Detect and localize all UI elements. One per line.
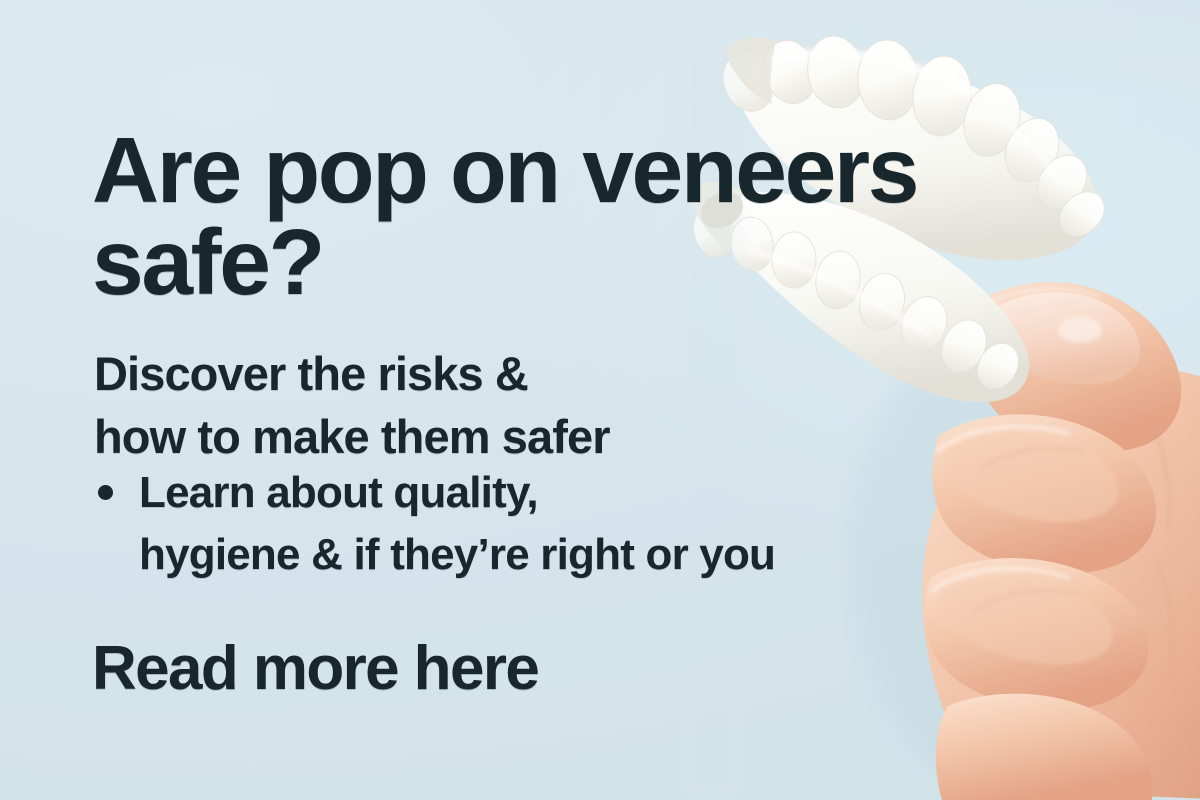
subhead-line-2: how to make them safer (94, 410, 610, 463)
subheading: Discover the risks & how to make them sa… (94, 343, 874, 468)
subhead-line-1: Discover the risks & (94, 347, 528, 400)
promo-banner: Are pop on veneers safe? Discover the ri… (0, 0, 1200, 800)
list-item: Learn about quality, hygiene & if they’r… (92, 462, 912, 585)
copy-block: Are pop on veneers safe? Discover the ri… (92, 0, 952, 800)
page-title: Are pop on veneers safe? (92, 124, 972, 308)
bullet-dot-icon (98, 485, 113, 500)
read-more-cta[interactable]: Read more here (92, 636, 538, 703)
benefits-list: Learn about quality, hygiene & if they’r… (92, 462, 912, 585)
headline-line-1: Are pop on veneers (92, 118, 917, 222)
bullet-line-1: Learn about quality, (139, 468, 538, 517)
headline-line-2: safe? (92, 210, 323, 314)
bullet-line-2: hygiene & if they’re right or you (139, 530, 775, 579)
